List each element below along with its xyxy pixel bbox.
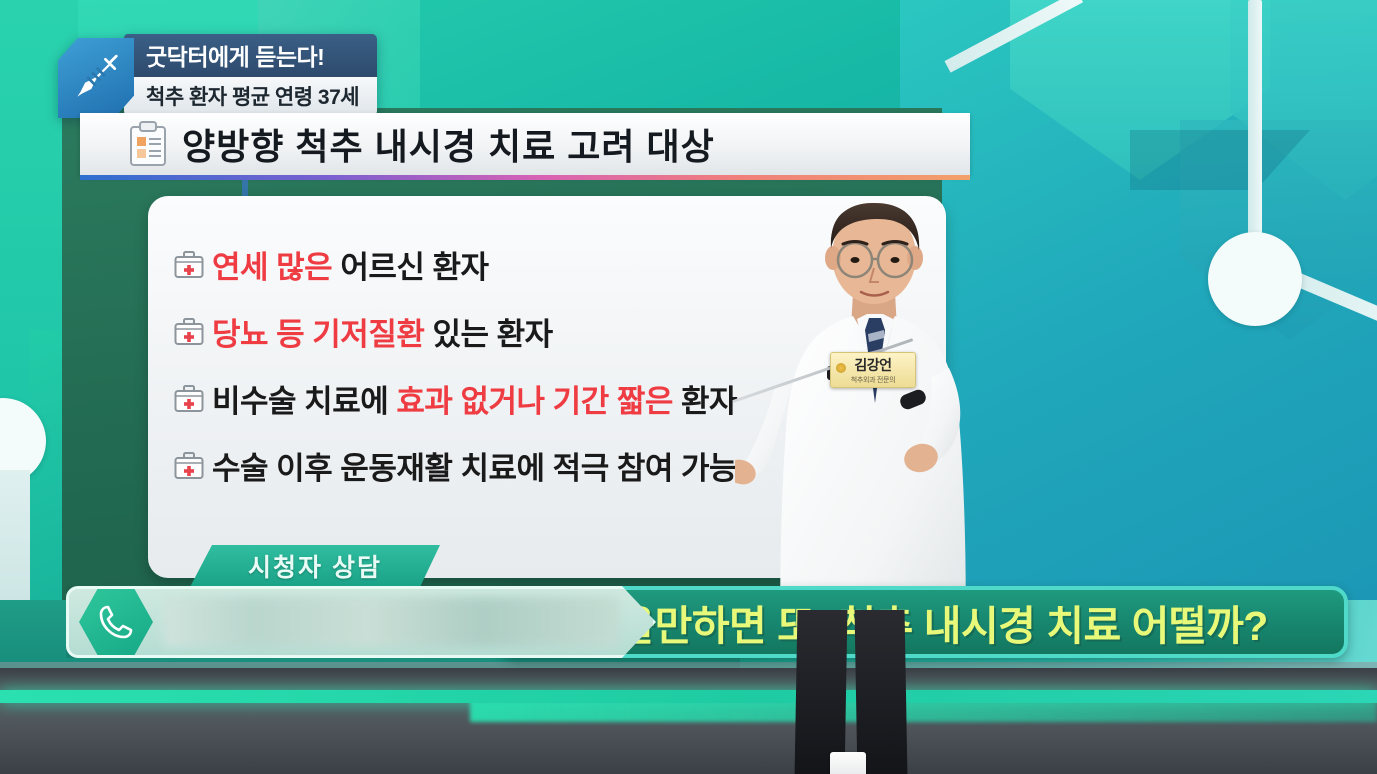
list-item-highlight: 효과 없거나 기간 짧은 — [396, 384, 673, 419]
list-item-text: 비수술 치료에 효과 없거나 기간 짧은 환자 — [212, 376, 737, 421]
program-badge: 굿닥터에게 듣는다! 척추 환자 평균 연령 37세 — [58, 34, 377, 118]
presenter-legs — [790, 610, 920, 774]
list-item-text: 당뇨 등 기저질환 있는 환자 — [212, 309, 553, 354]
program-title: 굿닥터에게 듣는다! — [124, 34, 377, 77]
title-accent-line — [80, 175, 970, 180]
broadcast-screenshot: 김강언 척추외과 전문의 굿닥터에게 듣는다! 척추 환자 평균 연령 37세 — [0, 0, 1377, 774]
paper-cup — [830, 752, 866, 774]
presenter-name: 김강언 — [854, 355, 891, 375]
ticker-text: 잊을만하면 또! 척추 내시경 치료 어떨까? — [580, 592, 1268, 652]
list-item-prefix: 비수술 치료에 — [212, 384, 396, 419]
phone-icon — [79, 589, 153, 655]
list-item-prefix: 수술 이후 운동재활 치료에 적극 참여 가능 — [212, 451, 737, 486]
list-item-text: 연세 많은 어르신 환자 — [212, 242, 489, 287]
list-item-text: 수술 이후 운동재활 치료에 적극 참여 가능 — [212, 443, 737, 488]
presenter-leg-right — [855, 610, 908, 774]
first-aid-kit-icon — [174, 318, 204, 346]
viewer-consult-label: 시청자 상담 — [248, 548, 382, 584]
background-rail-vertical — [1248, 0, 1262, 245]
syringe-icon — [58, 38, 134, 118]
program-badge-texts: 굿닥터에게 듣는다! 척추 환자 평균 연령 37세 — [124, 34, 377, 116]
program-subtitle: 척추 환자 평균 연령 37세 — [124, 77, 377, 116]
presenter-leg-left — [795, 610, 848, 774]
list-item-highlight: 당뇨 등 기저질환 — [212, 317, 424, 352]
viewer-consult-tab: 시청자 상담 — [190, 545, 440, 587]
list-item-rest: 있는 환자 — [424, 317, 552, 352]
first-aid-kit-icon — [174, 251, 204, 279]
slide-title-bar: 양방향 척추 내시경 치료 고려 대상 — [80, 113, 970, 175]
first-aid-kit-icon — [174, 385, 204, 413]
first-aid-kit-icon — [174, 452, 204, 480]
presenter-name-badge: 김강언 척추외과 전문의 — [830, 352, 916, 388]
background-node-circle-right — [1208, 232, 1302, 326]
viewer-phone-bar — [66, 586, 656, 658]
studio-floor-glow-wide — [470, 700, 1377, 722]
slide-title: 양방향 척추 내시경 치료 고려 대상 — [182, 118, 715, 170]
phone-number-censored — [163, 597, 619, 647]
name-badge-logo-icon — [836, 363, 846, 373]
list-item-rest: 어르신 환자 — [332, 250, 488, 285]
clipboard-icon — [128, 121, 168, 167]
list-item-rest: 환자 — [673, 384, 737, 419]
presenter-role: 척추외과 전문의 — [851, 375, 896, 385]
list-item-highlight: 연세 많은 — [212, 250, 332, 285]
studio-floor-glow-line — [0, 690, 1377, 703]
